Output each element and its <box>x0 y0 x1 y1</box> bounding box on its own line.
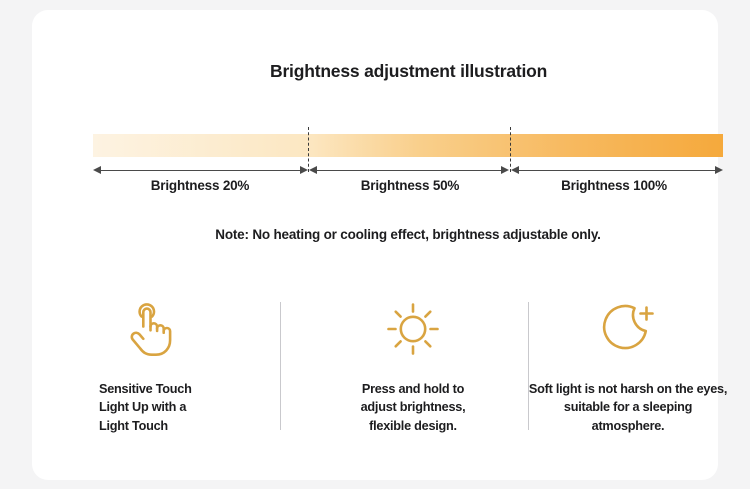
moon-plus-icon <box>533 298 723 360</box>
sun-icon <box>303 298 523 360</box>
feature-item-soft-light: Soft light is not harsh on the eyes, sui… <box>533 298 723 443</box>
arrow-right-icon-3 <box>715 166 723 174</box>
arrow-right-icon-1 <box>300 166 308 174</box>
brightness-scale: Brightness 20% Brightness 50% Brightness… <box>93 134 723 200</box>
feature-text-brightness: Press and hold to adjust brightness, fle… <box>303 380 523 435</box>
feature-item-touch: Sensitive Touch Light Up with a Light To… <box>99 298 274 443</box>
note-text: Note: No heating or cooling effect, brig… <box>93 227 723 242</box>
arrow-left-icon-2 <box>309 166 317 174</box>
axis-segment-3 <box>514 170 721 171</box>
arrow-left-icon-3 <box>511 166 519 174</box>
axis-segment-1 <box>95 170 306 171</box>
axis-segment-2 <box>312 170 507 171</box>
feature-text-soft-light: Soft light is not harsh on the eyes, sui… <box>503 380 750 435</box>
feature-item-brightness: Press and hold to adjust brightness, fle… <box>303 298 523 443</box>
page-root: Brightness adjustment illustration Brigh… <box>0 0 750 489</box>
scale-label-100: Brightness 100% <box>511 178 717 193</box>
feature-divider-1 <box>280 302 281 430</box>
scale-labels: Brightness 20% Brightness 50% Brightness… <box>93 178 723 200</box>
page-title: Brightness adjustment illustration <box>270 60 570 83</box>
scale-label-20: Brightness 20% <box>105 178 295 193</box>
scale-axis <box>93 165 723 177</box>
feature-text-touch: Sensitive Touch Light Up with a Light To… <box>99 380 274 435</box>
illustration-card: Brightness adjustment illustration Brigh… <box>32 10 718 480</box>
touch-hand-icon <box>99 298 274 360</box>
arrow-left-icon-1 <box>93 166 101 174</box>
feature-row: Sensitive Touch Light Up with a Light To… <box>93 298 723 443</box>
brightness-gradient-bar <box>93 134 723 157</box>
scale-label-50: Brightness 50% <box>315 178 505 193</box>
arrow-right-icon-2 <box>501 166 509 174</box>
